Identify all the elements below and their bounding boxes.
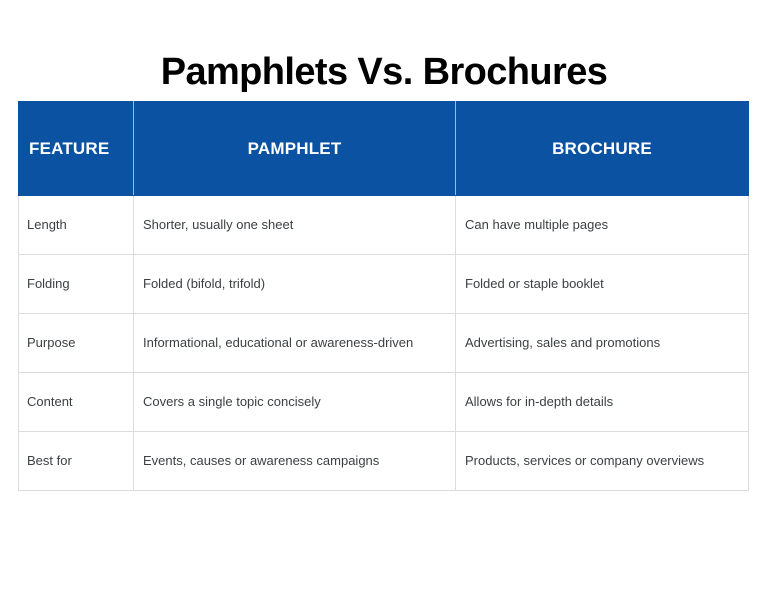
table-row: Length Shorter, usually one sheet Can ha… <box>19 196 749 255</box>
table-row: Content Covers a single topic concisely … <box>19 373 749 432</box>
table-row: Best for Events, causes or awareness cam… <box>19 432 749 491</box>
column-header-pamphlet: PAMPHLET <box>134 102 456 196</box>
table-header: FEATURE PAMPHLET BROCHURE <box>19 102 749 196</box>
cell-pamphlet: Informational, educational or awareness-… <box>134 314 456 373</box>
cell-pamphlet: Events, causes or awareness campaigns <box>134 432 456 491</box>
cell-pamphlet: Covers a single topic concisely <box>134 373 456 432</box>
table-row: Folding Folded (bifold, trifold) Folded … <box>19 255 749 314</box>
cell-brochure: Products, services or company overviews <box>456 432 749 491</box>
page-title: Pamphlets Vs. Brochures <box>0 47 768 97</box>
cell-pamphlet: Shorter, usually one sheet <box>134 196 456 255</box>
cell-feature: Purpose <box>19 314 134 373</box>
cell-feature: Folding <box>19 255 134 314</box>
table-body: Length Shorter, usually one sheet Can ha… <box>19 196 749 491</box>
cell-feature: Length <box>19 196 134 255</box>
comparison-table: FEATURE PAMPHLET BROCHURE Length Shorter… <box>18 101 749 491</box>
cell-brochure: Advertising, sales and promotions <box>456 314 749 373</box>
cell-brochure: Can have multiple pages <box>456 196 749 255</box>
cell-brochure: Allows for in-depth details <box>456 373 749 432</box>
comparison-table-container: FEATURE PAMPHLET BROCHURE Length Shorter… <box>18 101 748 491</box>
table-row: Purpose Informational, educational or aw… <box>19 314 749 373</box>
cell-feature: Content <box>19 373 134 432</box>
column-header-brochure: BROCHURE <box>456 102 749 196</box>
column-header-feature: FEATURE <box>19 102 134 196</box>
cell-brochure: Folded or staple booklet <box>456 255 749 314</box>
table-header-row: FEATURE PAMPHLET BROCHURE <box>19 102 749 196</box>
cell-pamphlet: Folded (bifold, trifold) <box>134 255 456 314</box>
page-root: Pamphlets Vs. Brochures FEATURE PAMPHLET… <box>0 0 768 593</box>
cell-feature: Best for <box>19 432 134 491</box>
